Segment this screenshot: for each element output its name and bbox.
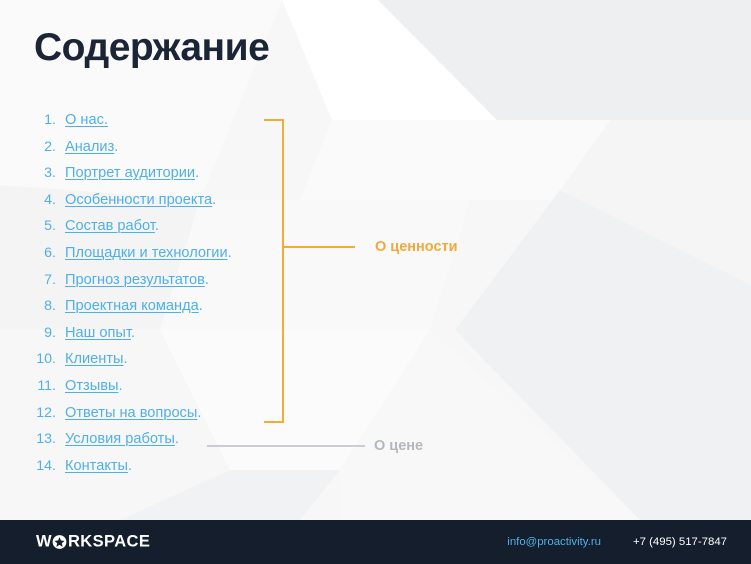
- price-group-label: О цене: [374, 438, 423, 454]
- list-item[interactable]: 11. Отзывы.: [0, 378, 300, 405]
- list-item-link[interactable]: Площадки и технологии.: [65, 245, 232, 261]
- list-item-number: 7.: [0, 272, 56, 288]
- list-item-number: 11.: [0, 378, 56, 394]
- list-item-label[interactable]: Особенности проекта: [65, 192, 212, 208]
- list-item-number: 14.: [0, 458, 56, 474]
- list-item-link[interactable]: Контакты.: [65, 458, 132, 474]
- list-item-suffix: .: [228, 245, 232, 261]
- list-item-suffix: .: [131, 325, 135, 341]
- slide-canvas: Содержание 1. О нас. 2. Анализ. 3. Портр…: [0, 0, 751, 564]
- page-title: Содержание: [34, 28, 269, 69]
- list-item-link[interactable]: Наш опыт.: [65, 325, 135, 341]
- list-item-label[interactable]: Ответы на вопросы: [65, 405, 197, 421]
- list-item-suffix: .: [155, 218, 159, 234]
- list-item-label[interactable]: Контакты: [65, 458, 128, 474]
- list-item-label[interactable]: Отзывы: [65, 378, 118, 394]
- list-item-suffix: .: [212, 192, 216, 208]
- list-item-label[interactable]: Условия работы: [65, 431, 175, 447]
- list-item-label[interactable]: Прогноз результатов: [65, 272, 205, 288]
- list-item-link[interactable]: Проектная команда.: [65, 298, 203, 314]
- list-item-link[interactable]: Анализ.: [65, 139, 118, 155]
- list-item-number: 10.: [0, 351, 56, 367]
- list-item[interactable]: 3. Портрет аудитории.: [0, 165, 300, 192]
- footer-contacts: info@proactivity.ru +7 (495) 517-7847: [507, 536, 727, 548]
- value-group-connector-line: [283, 246, 355, 248]
- list-item-link[interactable]: Клиенты.: [65, 351, 128, 367]
- list-item[interactable]: 2. Анализ.: [0, 139, 300, 166]
- footer-phone[interactable]: +7 (495) 517-7847: [633, 536, 727, 548]
- list-item-link[interactable]: Состав работ.: [65, 218, 159, 234]
- list-item-link[interactable]: Прогноз результатов.: [65, 272, 209, 288]
- list-item-suffix: .: [199, 298, 203, 314]
- price-group-connector-line: [207, 445, 365, 447]
- list-item[interactable]: 6. Площадки и технологии.: [0, 245, 300, 272]
- list-item-label[interactable]: Наш опыт: [65, 325, 131, 341]
- list-item-suffix: .: [124, 351, 128, 367]
- list-item-label[interactable]: Клиенты: [65, 351, 124, 367]
- logo-text-before: W: [36, 533, 52, 552]
- list-item-label[interactable]: Анализ: [65, 139, 114, 155]
- list-item-suffix: .: [114, 139, 118, 155]
- footer-bar: W RKSPACE info@proactivity.ru +7 (495) 5…: [0, 520, 751, 564]
- list-item-number: 5.: [0, 218, 56, 234]
- list-item[interactable]: 8. Проектная команда.: [0, 298, 300, 325]
- list-item-link[interactable]: Портрет аудитории.: [65, 165, 199, 181]
- list-item[interactable]: 4. Особенности проекта.: [0, 192, 300, 219]
- star-icon: [52, 535, 67, 550]
- list-item-suffix: .: [128, 458, 132, 474]
- list-item-number: 6.: [0, 245, 56, 261]
- list-item[interactable]: 7. Прогноз результатов.: [0, 272, 300, 299]
- list-item-number: 12.: [0, 405, 56, 421]
- list-item-label[interactable]: Проектная команда: [65, 298, 199, 314]
- list-item-number: 2.: [0, 139, 56, 155]
- list-item-label[interactable]: Состав работ: [65, 218, 155, 234]
- list-item-suffix: .: [205, 272, 209, 288]
- list-item[interactable]: 5. Состав работ.: [0, 218, 300, 245]
- list-item-suffix: .: [118, 378, 122, 394]
- list-item-number: 3.: [0, 165, 56, 181]
- list-item[interactable]: 14. Контакты.: [0, 458, 300, 485]
- list-item-link[interactable]: Условия работы.: [65, 431, 179, 447]
- contents-list: 1. О нас. 2. Анализ. 3. Портрет аудитори…: [0, 112, 300, 484]
- list-item-label[interactable]: О нас: [65, 112, 104, 128]
- list-item-link[interactable]: Ответы на вопросы.: [65, 405, 201, 421]
- list-item-number: 4.: [0, 192, 56, 208]
- list-item-suffix[interactable]: .: [104, 112, 108, 128]
- list-item-label[interactable]: Площадки и технологии: [65, 245, 228, 261]
- list-item-label[interactable]: Портрет аудитории: [65, 165, 195, 181]
- list-item-suffix: .: [195, 165, 199, 181]
- list-item-link[interactable]: Особенности проекта.: [65, 192, 216, 208]
- workspace-logo[interactable]: W RKSPACE: [36, 533, 150, 552]
- list-item-number: 13.: [0, 431, 56, 447]
- value-group-label: О ценности: [375, 239, 458, 255]
- list-item[interactable]: 10. Клиенты.: [0, 351, 300, 378]
- list-item-link[interactable]: О нас.: [65, 112, 108, 128]
- list-item-number: 9.: [0, 325, 56, 341]
- list-item-number: 1.: [0, 112, 56, 128]
- list-item-number: 8.: [0, 298, 56, 314]
- footer-email-link[interactable]: info@proactivity.ru: [507, 536, 601, 548]
- list-item[interactable]: 12. Ответы на вопросы.: [0, 405, 300, 432]
- logo-text-after: RKSPACE: [68, 533, 150, 552]
- list-item[interactable]: 9. Наш опыт.: [0, 325, 300, 352]
- list-item[interactable]: 1. О нас.: [0, 112, 300, 139]
- list-item-suffix: .: [175, 431, 179, 447]
- list-item-suffix: .: [197, 405, 201, 421]
- list-item-link[interactable]: Отзывы.: [65, 378, 123, 394]
